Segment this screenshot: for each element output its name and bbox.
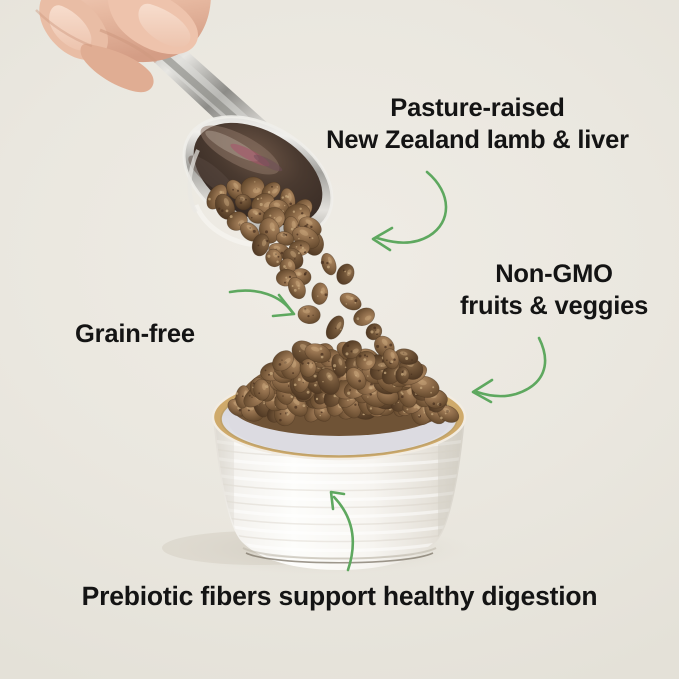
kibble-speckle xyxy=(294,383,297,386)
kibble-speckle xyxy=(284,205,285,206)
kibble-speckle xyxy=(261,197,263,199)
kibble-speckle xyxy=(279,363,282,366)
kibble-speckle xyxy=(251,217,252,218)
kibble-speckle xyxy=(278,256,280,258)
kibble-speckle xyxy=(438,403,441,406)
kibble-speckle xyxy=(245,199,247,201)
kibble-speckle xyxy=(218,208,220,210)
kibble-speckle xyxy=(274,217,276,219)
kibble-speckle xyxy=(299,350,300,351)
kibble-speckle xyxy=(349,389,351,391)
kibble-speckle xyxy=(265,370,267,372)
kibble-speckle xyxy=(285,277,287,279)
kibble-speckle xyxy=(440,417,443,420)
kibble-speckle xyxy=(296,246,298,248)
kibble-speckle xyxy=(347,392,350,395)
kibble-speckle xyxy=(251,397,252,398)
kibble-speckle xyxy=(221,209,224,212)
kibble-speckle xyxy=(289,276,291,278)
kibble-speckle xyxy=(309,237,310,238)
kibble-speckle xyxy=(445,413,447,415)
kibble-speckle xyxy=(347,344,350,347)
kibble-speckle xyxy=(367,396,368,397)
kibble-speckle xyxy=(373,327,376,330)
kibble-speckle xyxy=(327,265,330,268)
kibble-speckle xyxy=(370,407,372,409)
kibble-speckle xyxy=(363,358,366,361)
kibble-speckle xyxy=(314,374,317,377)
kibble-speckle xyxy=(307,315,309,317)
kibble-speckle xyxy=(285,267,287,269)
kibble-speckle xyxy=(265,230,268,233)
kibble-speckle xyxy=(343,269,345,271)
kibble-speckle xyxy=(284,282,286,284)
kibble-speckle xyxy=(303,404,306,407)
kibble-speckle xyxy=(405,357,408,360)
kibble-speckle xyxy=(305,272,306,273)
kibble-speckle xyxy=(230,215,233,218)
kibble-speckle xyxy=(208,198,211,201)
kibble-speckle xyxy=(354,302,356,304)
callout-non-gmo-line2: fruits & veggies xyxy=(460,290,648,322)
kibble-speckle xyxy=(326,262,328,264)
callout-pasture-raised-line2: New Zealand lamb & liver xyxy=(326,124,629,156)
kibble-speckle xyxy=(370,330,373,333)
kibble-speckle xyxy=(271,186,273,188)
kibble-speckle xyxy=(321,261,324,264)
infographic-canvas: Pasture-raised New Zealand lamb & liver … xyxy=(0,0,679,679)
kibble-speckle xyxy=(354,404,356,406)
kibble-speckle xyxy=(358,380,361,383)
kibble-speckle xyxy=(432,386,434,388)
kibble-speckle xyxy=(259,212,262,215)
kibble-speckle xyxy=(384,346,386,348)
kibble-speckle xyxy=(240,201,243,204)
kibble-speckle xyxy=(304,273,306,275)
kibble-speckle xyxy=(400,391,402,393)
kibble-speckle xyxy=(363,414,364,415)
kibble-speckle xyxy=(282,196,284,198)
kibble-piece xyxy=(322,313,347,342)
kibble-speckle xyxy=(420,387,423,390)
kibble-speckle xyxy=(333,364,336,367)
kibble-speckle xyxy=(242,396,244,398)
kibble-speckle xyxy=(366,355,368,357)
kibble-speckle xyxy=(288,383,289,384)
callout-grain-free: Grain-free xyxy=(75,318,195,350)
kibble-speckle xyxy=(260,203,263,206)
kibble-speckle xyxy=(340,329,342,331)
kibble-speckle xyxy=(307,362,309,364)
kibble-speckle xyxy=(254,181,255,182)
kibble-speckle xyxy=(312,237,314,239)
kibble-speckle xyxy=(276,186,278,188)
kibble-speckle xyxy=(393,358,395,360)
kibble-speckle xyxy=(350,350,352,352)
kibble-speckle xyxy=(307,391,310,394)
kibble-speckle xyxy=(390,360,393,363)
kibble-speckle xyxy=(354,299,357,302)
kibble-speckle xyxy=(226,210,229,213)
kibble-speckle xyxy=(314,384,317,387)
kibble-speckle xyxy=(322,381,323,382)
kibble-speckle xyxy=(367,375,369,377)
kibble-speckle xyxy=(232,189,234,191)
callout-non-gmo: Non-GMO fruits & veggies xyxy=(460,258,648,322)
kibble-speckle xyxy=(294,289,297,292)
kibble-speckle xyxy=(300,208,302,210)
kibble-speckle xyxy=(288,385,290,387)
kibble-speckle xyxy=(430,392,432,394)
kibble-speckle xyxy=(321,353,324,356)
kibble-speckle xyxy=(411,374,412,375)
kibble-speckle xyxy=(297,224,299,226)
callout-prebiotic-fibers: Prebiotic fibers support healthy digesti… xyxy=(82,580,598,613)
kibble-speckle xyxy=(268,191,270,193)
kibble-speckle xyxy=(384,372,387,375)
kibble-speckle xyxy=(294,406,297,409)
kibble-speckle xyxy=(401,395,404,398)
kibble-speckle xyxy=(293,211,295,213)
callout-pasture-raised-line1: Pasture-raised xyxy=(326,92,629,124)
kibble-speckle xyxy=(283,265,286,268)
kibble-speckle xyxy=(291,228,294,231)
kibble-speckle xyxy=(376,345,379,348)
kibble-speckle xyxy=(268,374,270,376)
kibble-speckle xyxy=(389,344,392,347)
kibble-speckle xyxy=(289,203,292,206)
kibble-speckle xyxy=(298,252,300,254)
kibble-speckle xyxy=(347,399,349,401)
kibble-speckle xyxy=(418,415,420,417)
kibble-piece xyxy=(297,304,322,325)
kibble-speckle xyxy=(298,238,299,239)
kibble-speckle xyxy=(292,372,294,374)
kibble-piece xyxy=(319,251,339,277)
kibble-speckle xyxy=(406,408,408,410)
kibble-speckle xyxy=(312,315,313,316)
kibble-speckle xyxy=(431,413,433,415)
kibble-speckle xyxy=(320,347,323,350)
kibble-speckle xyxy=(258,392,260,394)
kibble-speckle xyxy=(398,402,399,403)
kibble-speckle xyxy=(364,354,366,356)
kibble-speckle xyxy=(292,285,294,287)
kibble-speckle xyxy=(237,190,239,192)
kibble-speckle xyxy=(253,230,256,233)
kibble-piece xyxy=(334,261,358,287)
kibble-speckle xyxy=(281,359,282,360)
kibble-speckle xyxy=(269,215,271,217)
kibble-speckle xyxy=(296,234,298,236)
kibble-speckle xyxy=(357,317,360,320)
kibble-speckle xyxy=(334,369,335,370)
callout-grain-free-line1: Grain-free xyxy=(75,318,195,350)
callout-prebiotic-fibers-line1: Prebiotic fibers support healthy digesti… xyxy=(82,580,598,613)
kibble-speckle xyxy=(298,288,300,290)
kibble-speckle xyxy=(280,413,282,415)
kibble-speckle xyxy=(236,392,239,395)
kibble-speckle xyxy=(316,398,318,400)
callout-pasture-raised: Pasture-raised New Zealand lamb & liver xyxy=(326,92,629,156)
callout-non-gmo-line1: Non-GMO xyxy=(460,258,648,290)
kibble-speckle xyxy=(257,198,259,200)
kibble-speckle xyxy=(294,258,296,260)
kibble-speckle xyxy=(310,226,312,228)
kibble-speckle xyxy=(249,395,251,397)
kibble-speckle xyxy=(346,303,347,304)
kibble-speckle xyxy=(386,360,388,362)
kibble-speckle xyxy=(345,366,347,368)
kibble-speckle xyxy=(325,293,328,296)
kibble-speckle xyxy=(358,354,361,357)
kibble-speckle xyxy=(279,419,282,422)
kibble-speckle xyxy=(300,244,302,246)
kibble-speckle xyxy=(433,402,436,405)
kibble-speckle xyxy=(411,359,413,361)
kibble-speckle xyxy=(270,372,273,375)
kibble-speckle xyxy=(301,362,303,364)
kibble-speckle xyxy=(319,415,320,416)
kibble-speckle xyxy=(328,361,330,363)
kibble-speckle xyxy=(317,295,318,296)
kibble-speckle xyxy=(298,378,301,381)
kibble-speckle xyxy=(321,356,324,359)
kibble-speckle xyxy=(346,352,349,355)
kibble-speckle xyxy=(276,260,279,263)
kibble-speckle xyxy=(257,244,259,246)
kibble-speckle xyxy=(306,224,308,226)
kibble-speckle xyxy=(267,255,270,258)
kibble-speckle xyxy=(282,395,284,397)
